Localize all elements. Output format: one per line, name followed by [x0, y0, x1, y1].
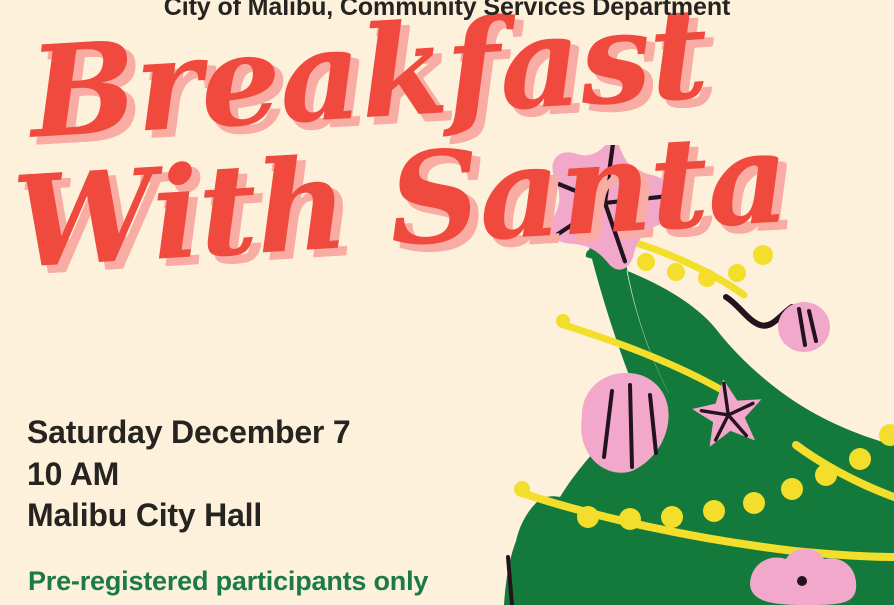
- event-date: Saturday December 7: [27, 412, 350, 454]
- poster-canvas: City of Malibu, Community Services Depar…: [0, 0, 894, 605]
- clam-shell-hanging-ornament: [726, 297, 830, 352]
- event-time: 10 AM: [27, 454, 350, 496]
- title-line-1: Breakfast: [27, 0, 791, 152]
- coastal-christmas-tree-illustration: [464, 145, 894, 605]
- event-details: Saturday December 7 10 AM Malibu City Ha…: [27, 412, 350, 537]
- registration-note: Pre-registered participants only: [28, 566, 428, 597]
- event-location: Malibu City Hall: [27, 495, 350, 537]
- organization-header: City of Malibu, Community Services Depar…: [0, 0, 894, 22]
